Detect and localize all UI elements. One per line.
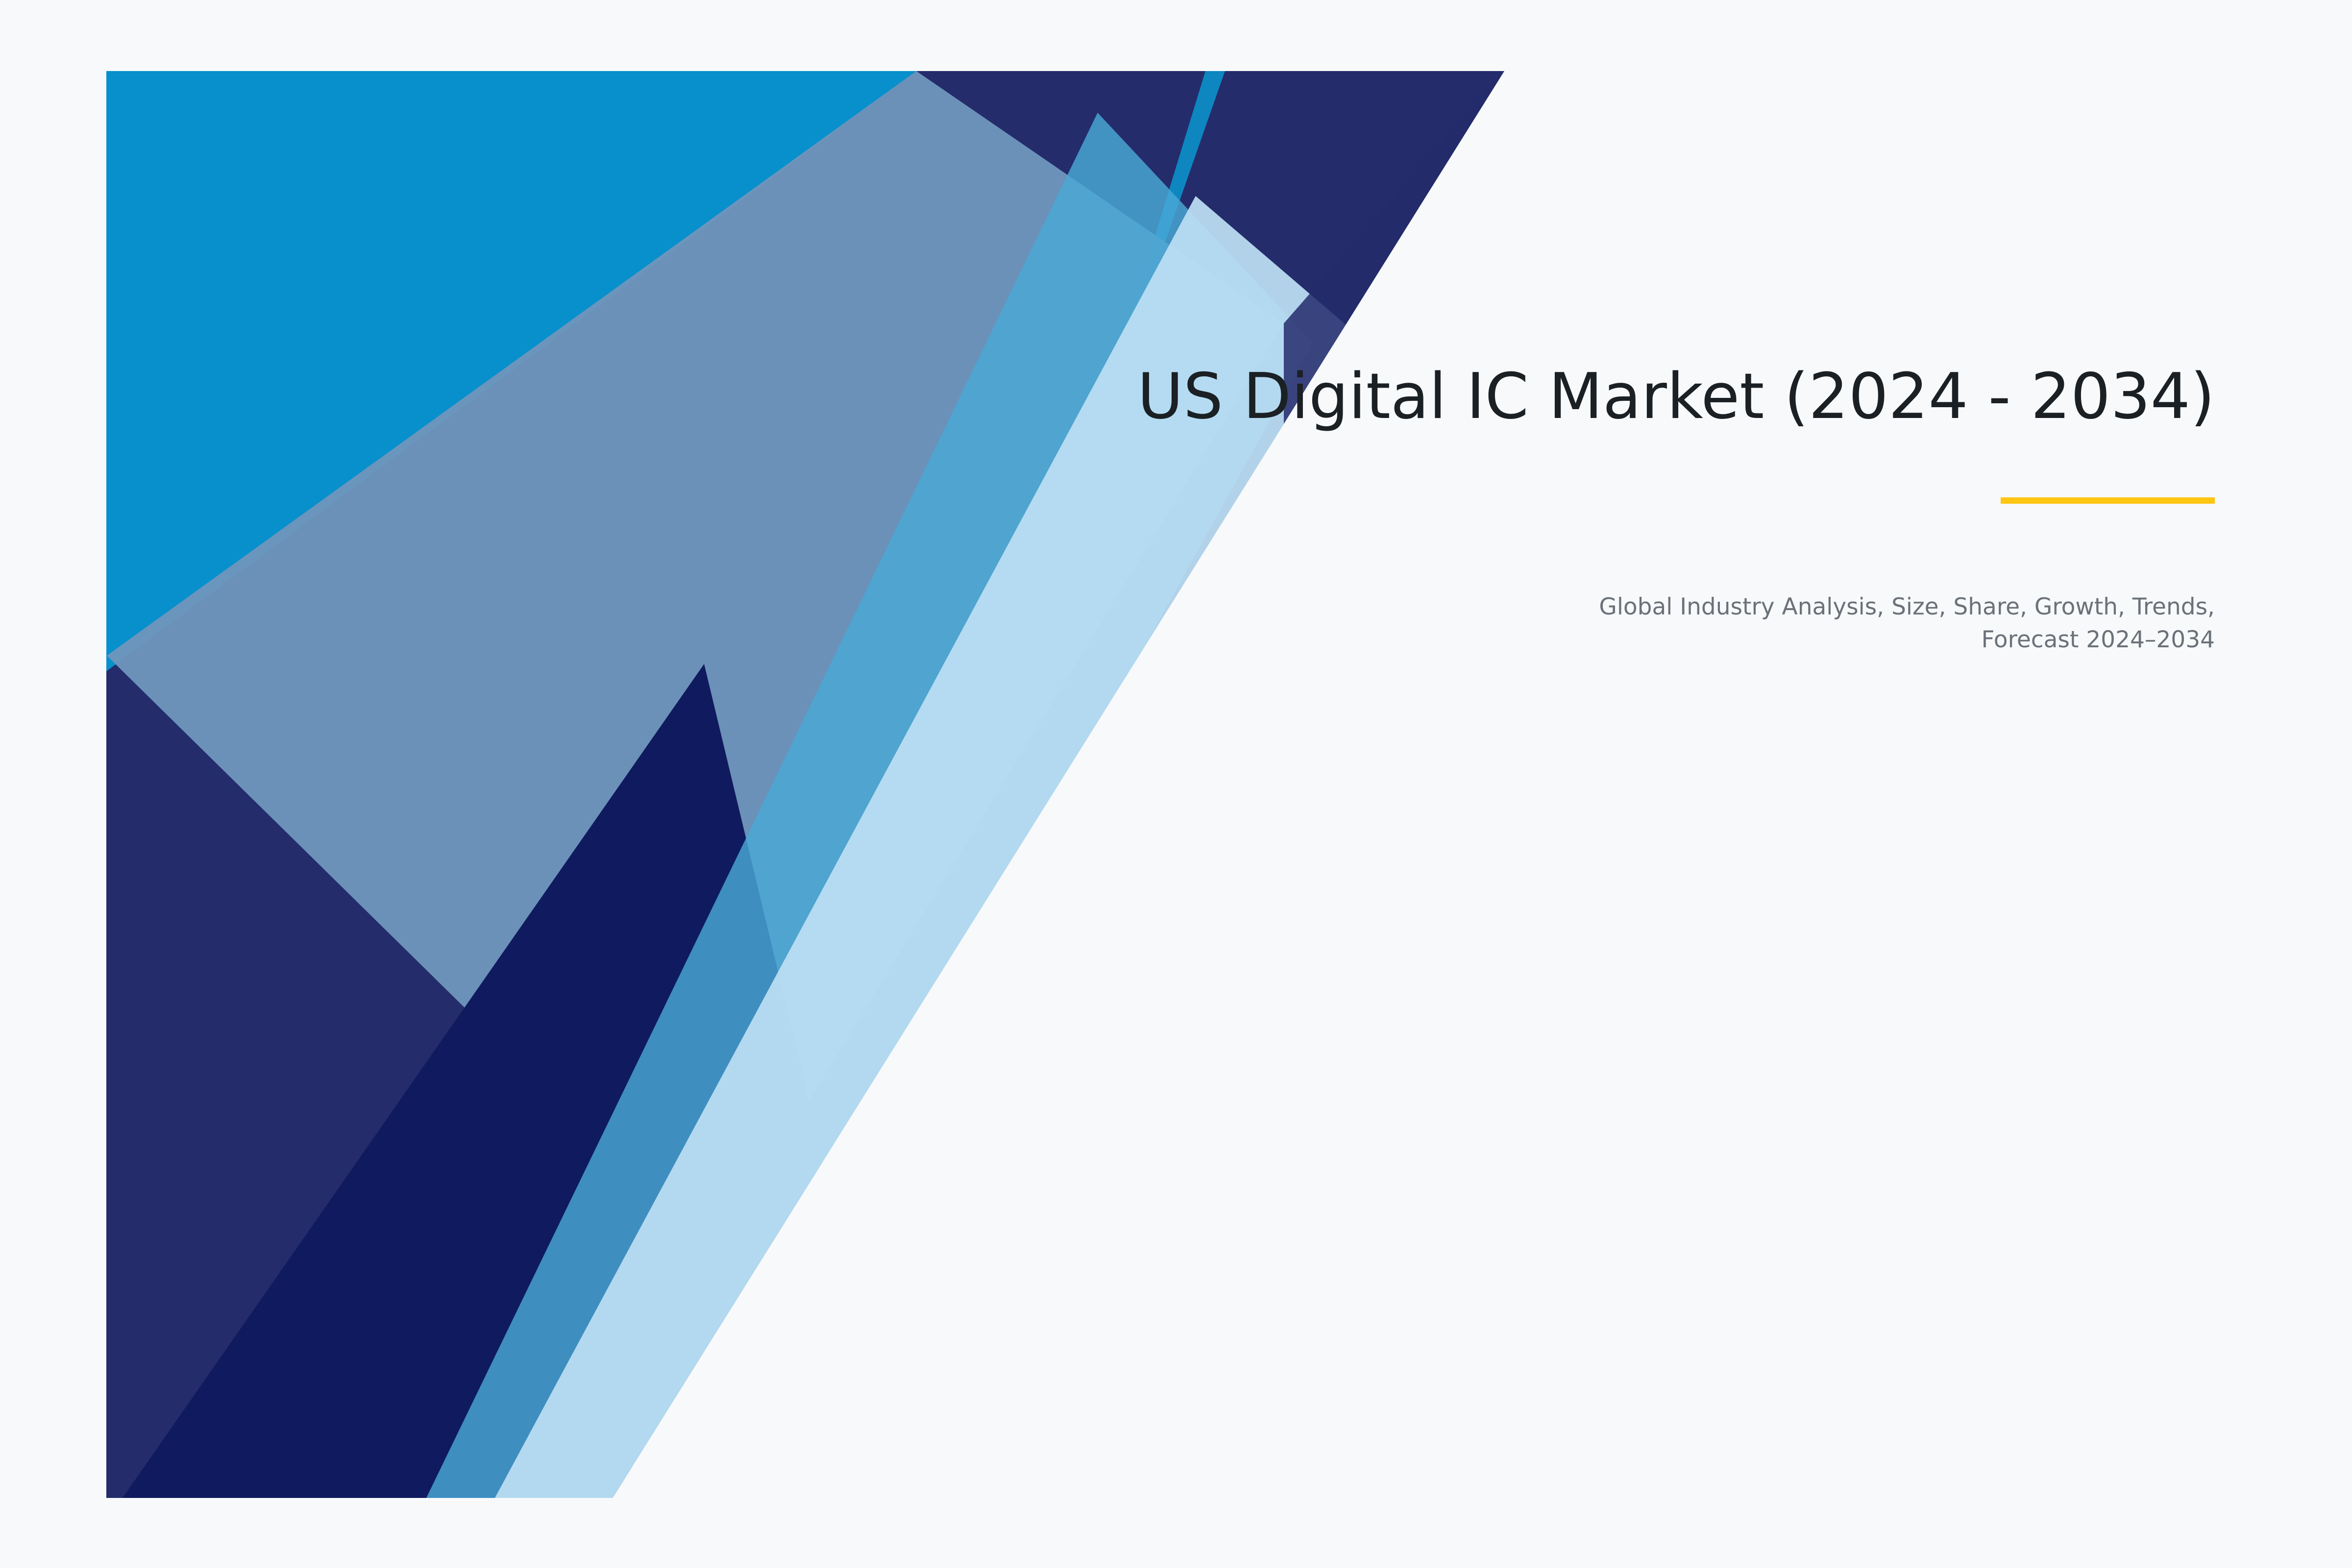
abstract-polygon-banner: [0, 0, 2352, 1568]
accent-rule: [2001, 497, 2215, 504]
page-title: US Digital IC Market (2024 - 2034): [833, 363, 2215, 432]
cover-slide: US Digital IC Market (2024 - 2034) Globa…: [0, 0, 2352, 1568]
page-subtitle: Global Industry Analysis, Size, Share, G…: [1583, 591, 2215, 656]
accent-rule-wrapper: [833, 497, 2215, 504]
cover-text-block: US Digital IC Market (2024 - 2034) Globa…: [833, 363, 2215, 679]
